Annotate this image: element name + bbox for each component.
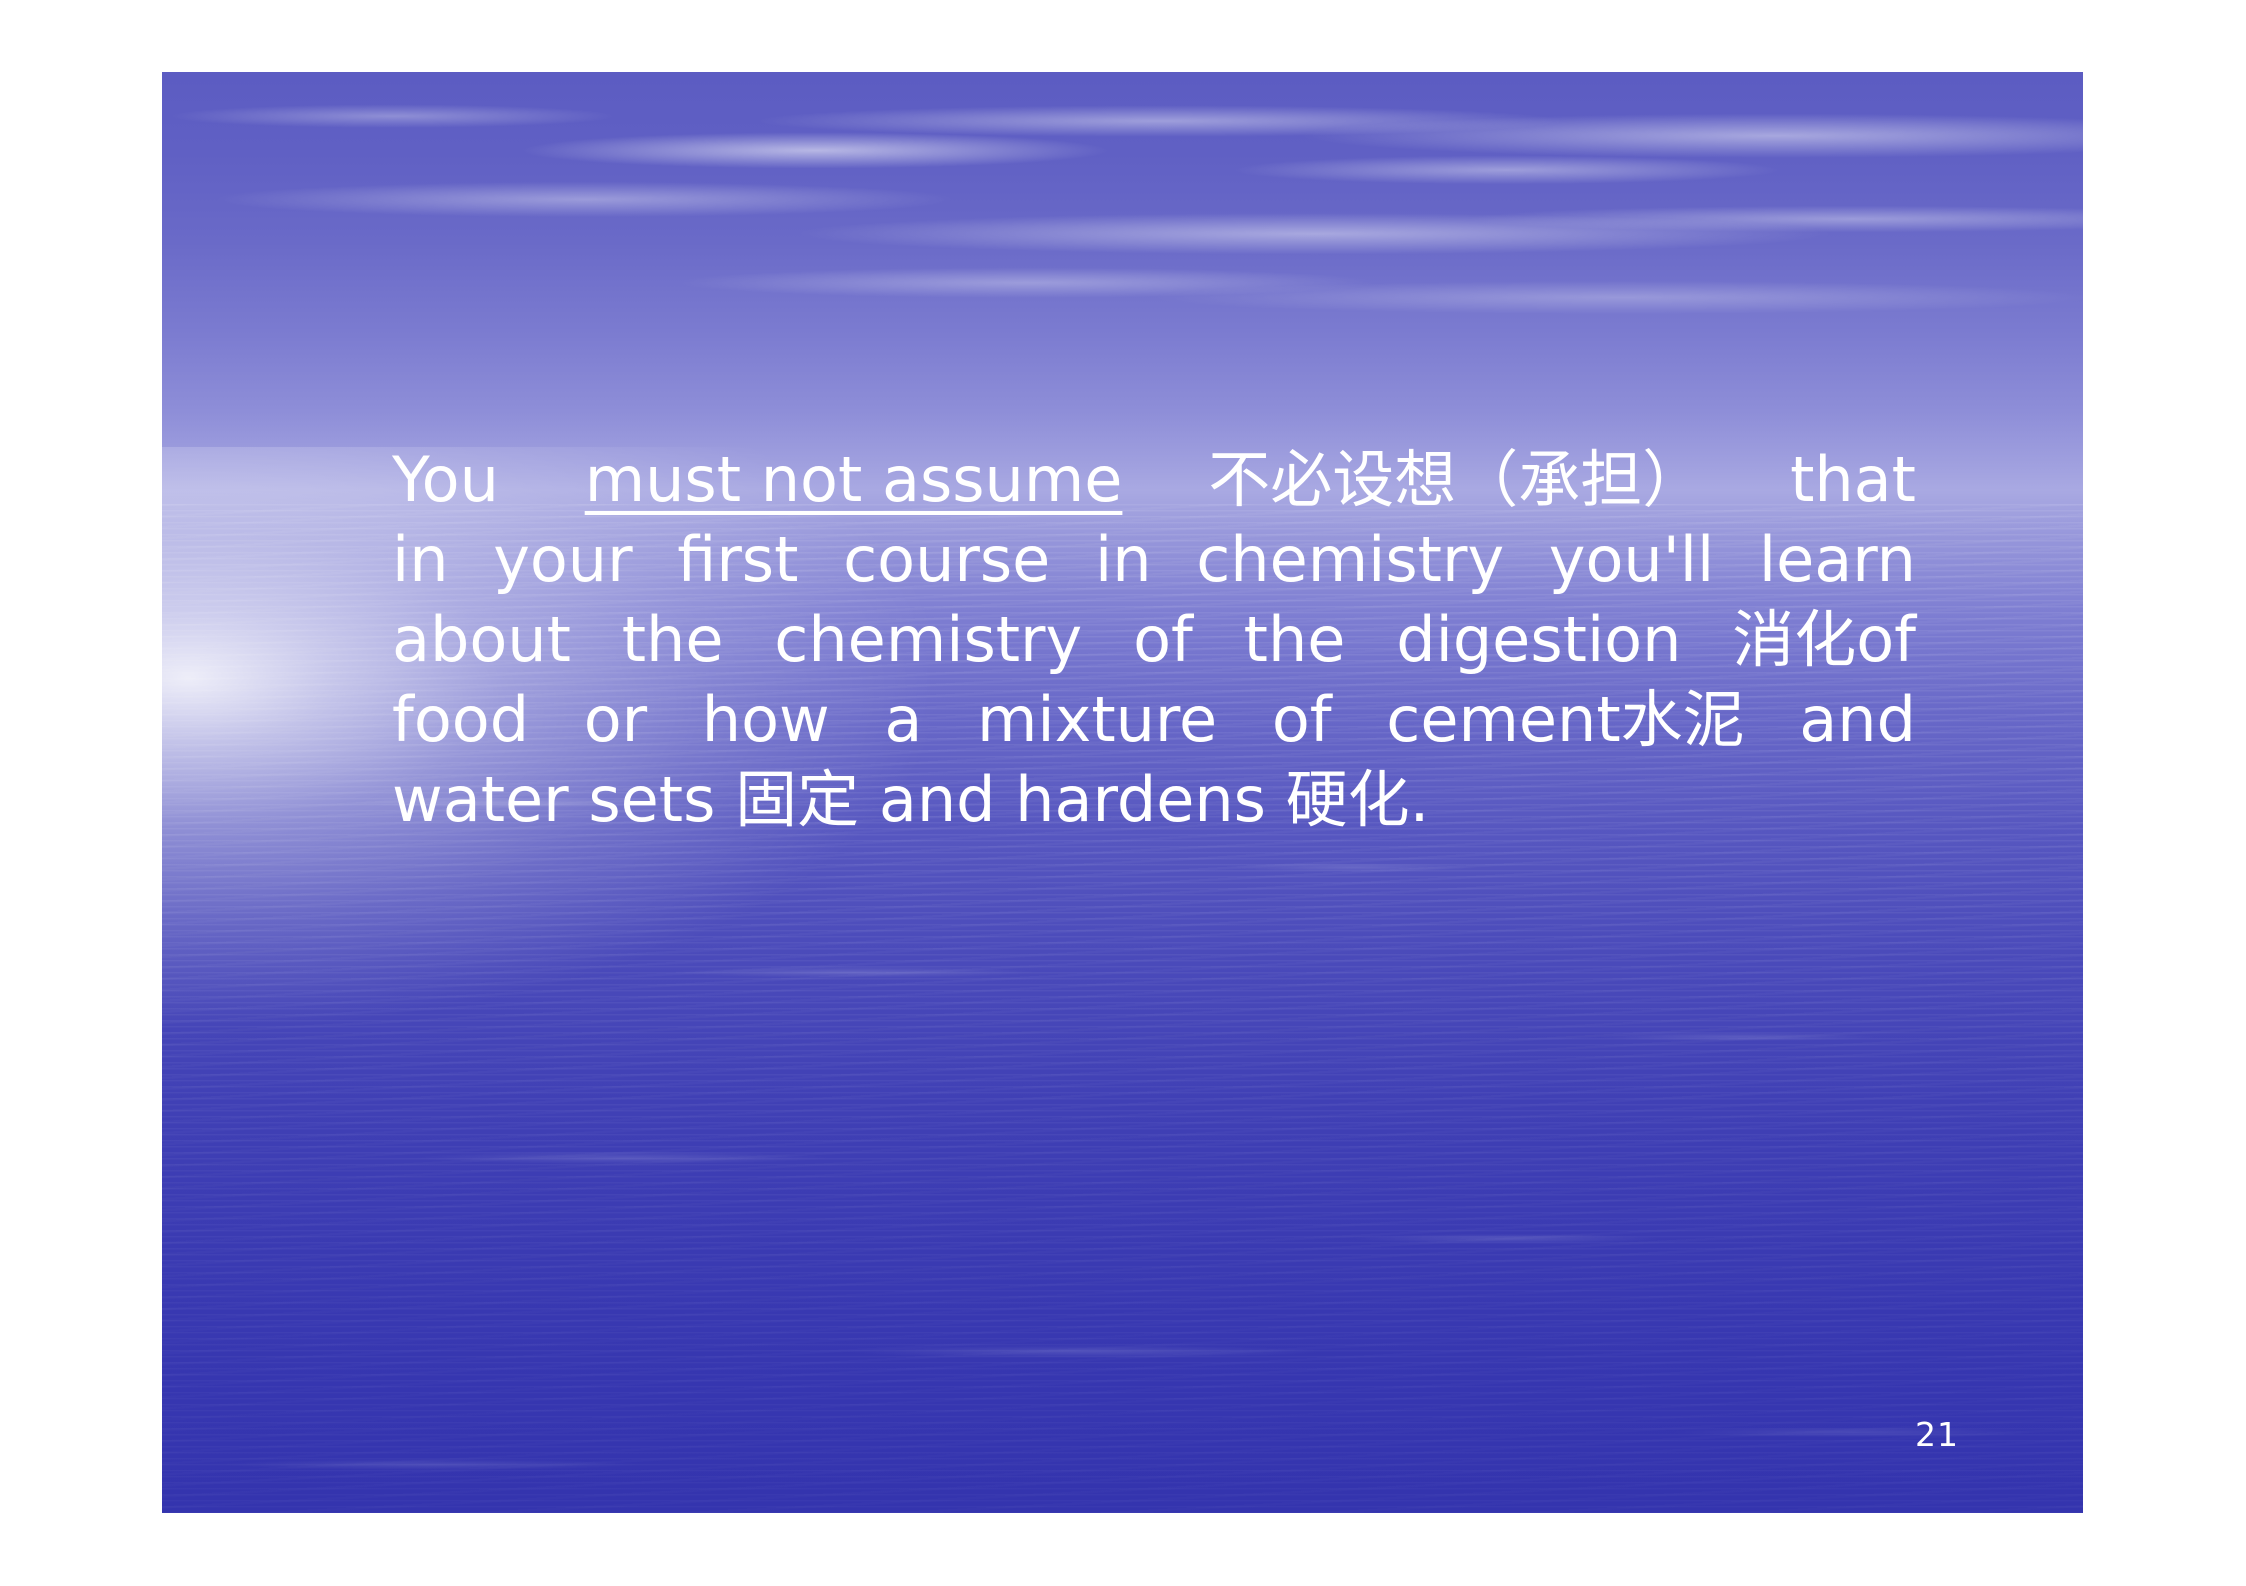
line-4-segment-5: mixture bbox=[977, 680, 1217, 760]
line-3-segment-6: digestion bbox=[1396, 600, 1681, 680]
line-2-segment-8: learn bbox=[1759, 520, 1916, 600]
line-3-segment-4: of bbox=[1133, 600, 1193, 680]
line-4-segment-3: how bbox=[702, 680, 830, 760]
line-2-segment-6: chemistry bbox=[1196, 520, 1504, 600]
line-4-segment-8: and bbox=[1799, 680, 1916, 760]
line-4-segment-6: of bbox=[1272, 680, 1332, 760]
line-3-segment-2: the bbox=[622, 600, 724, 680]
line-2-segment-3: first bbox=[677, 520, 798, 600]
line-2-segment-7: you'll bbox=[1549, 520, 1714, 600]
text-line-4: food or how a mixture of cement水泥 and bbox=[392, 680, 1916, 760]
line-3-segment-3: chemistry bbox=[774, 600, 1082, 680]
text-line-1: You must not assume 不必设想（承担） that bbox=[392, 440, 1916, 520]
line-3-segment-cjk: 消化of bbox=[1732, 600, 1916, 680]
line-1-segment-1: You bbox=[392, 440, 499, 520]
line-1-segment-cjk: 不必设想（承担） bbox=[1208, 440, 1704, 520]
line-2-segment-1: in bbox=[392, 520, 449, 600]
text-line-5: water sets 固定 and hardens 硬化. bbox=[392, 760, 1916, 840]
line-3-segment-5: the bbox=[1244, 600, 1346, 680]
line-2-segment-5: in bbox=[1095, 520, 1152, 600]
line-4-segment-1: food bbox=[392, 680, 529, 760]
line-2-segment-2: your bbox=[493, 520, 632, 600]
slide-body-text: You must not assume 不必设想（承担） that in you… bbox=[392, 440, 1916, 840]
text-line-3: about the chemistry of the digestion 消化o… bbox=[392, 600, 1916, 680]
page-number: 21 bbox=[1915, 1418, 1959, 1451]
line-5-segment-1: water sets 固定 and hardens 硬化. bbox=[392, 760, 1429, 840]
line-4-segment-cjk: cement水泥 bbox=[1386, 680, 1744, 760]
line-2-segment-4: course bbox=[843, 520, 1050, 600]
line-1-segment-underlined: must not assume bbox=[585, 440, 1123, 520]
line-4-segment-4: a bbox=[884, 680, 922, 760]
text-line-2: in your first course in chemistry you'll… bbox=[392, 520, 1916, 600]
presentation-slide: You must not assume 不必设想（承担） that in you… bbox=[162, 72, 2083, 1513]
line-1-segment-4: that bbox=[1790, 440, 1916, 520]
line-3-segment-1: about bbox=[392, 600, 571, 680]
line-4-segment-2: or bbox=[584, 680, 647, 760]
